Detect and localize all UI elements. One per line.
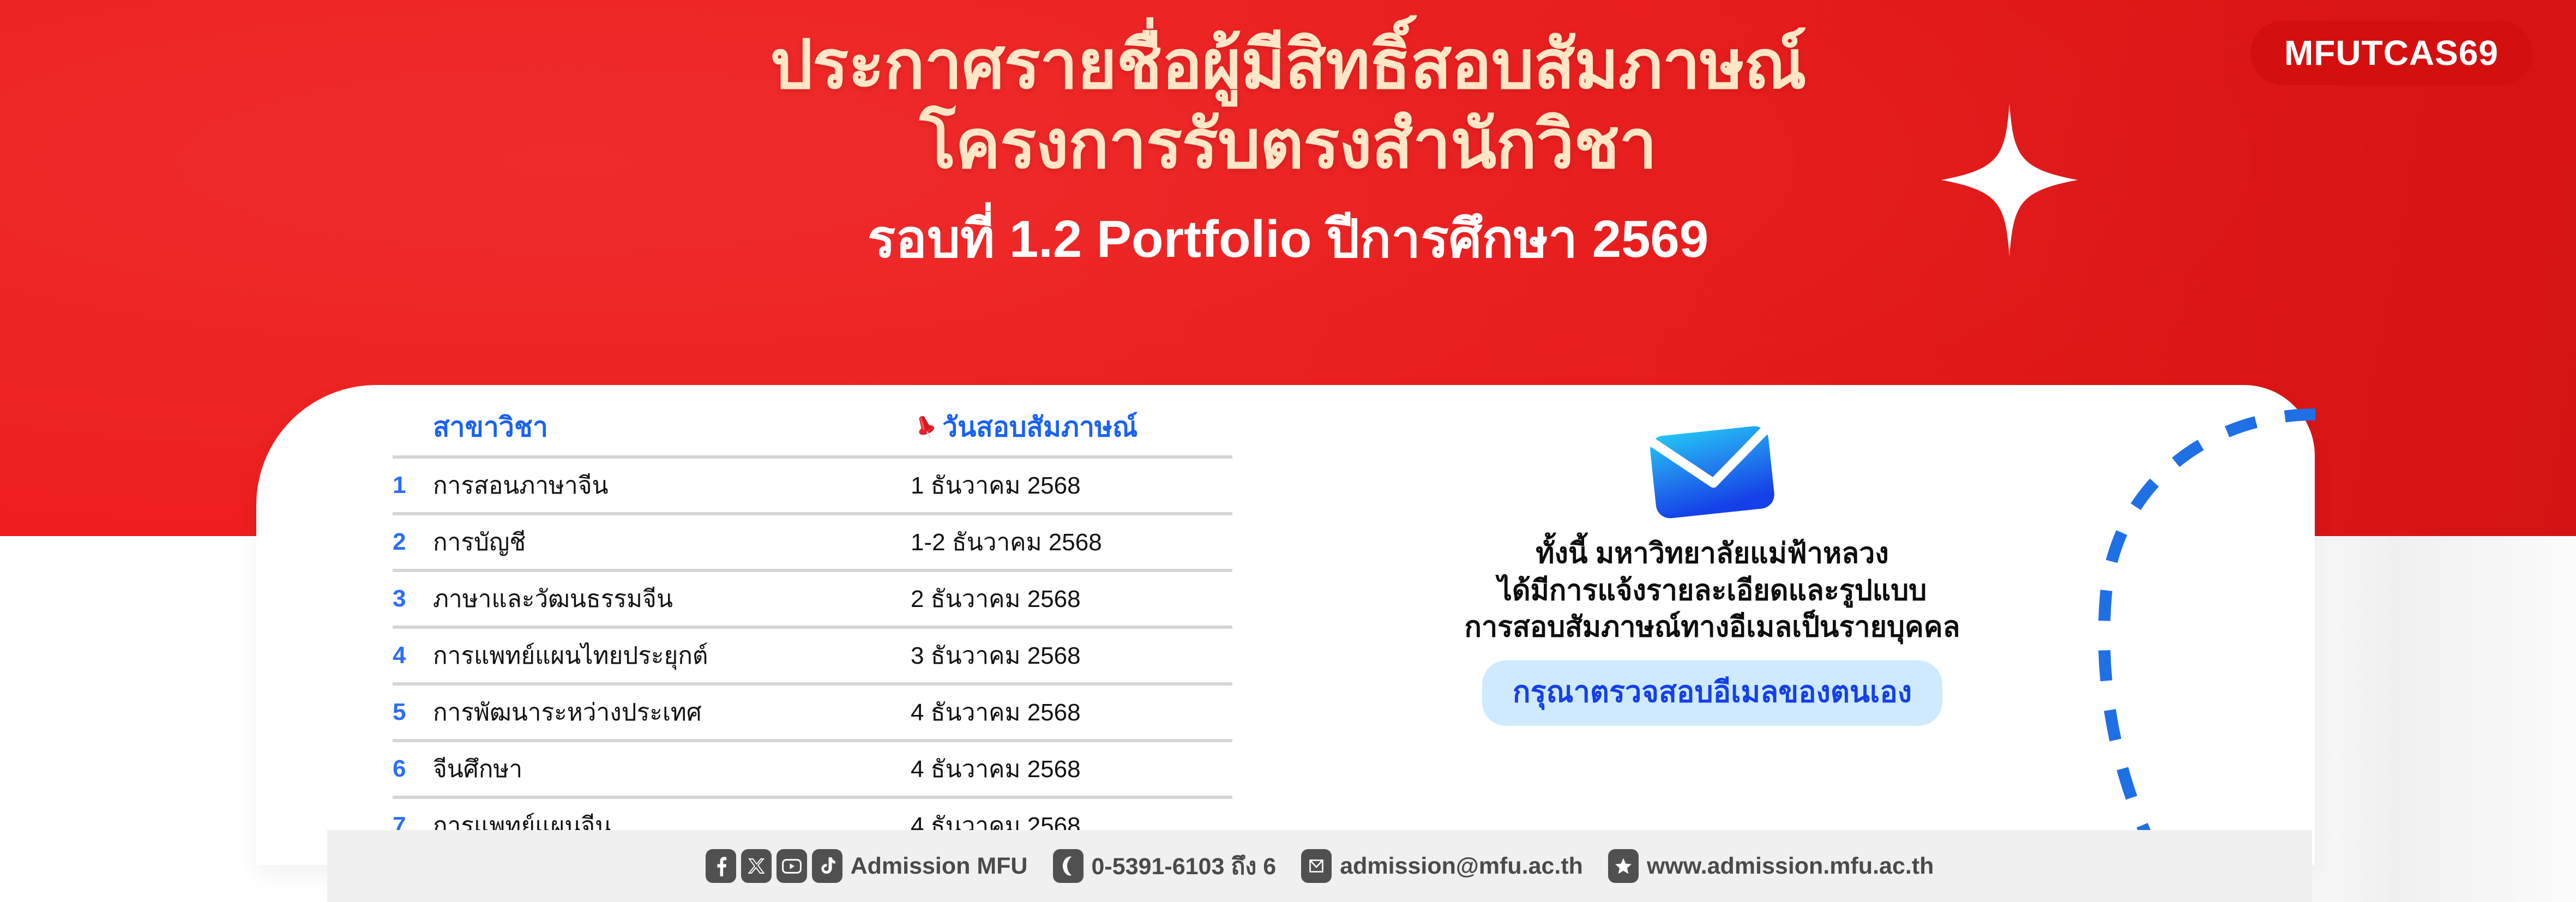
table-row: 2การบัญชี1-2 ธันวาคม 2568 [393, 514, 1232, 570]
badge-mfutcas69[interactable]: MFUTCAS69 [2250, 21, 2532, 85]
row-date: 1 ธันวาคม 2568 [902, 457, 1232, 514]
row-number: 1 [393, 457, 433, 514]
table-row: 6จีนศึกษา4 ธันวาคม 2568 [393, 741, 1232, 797]
footer-email-group: admission@mfu.ac.th [1301, 849, 1608, 883]
row-subject: การแพทย์แผนไทยประยุกต์ [433, 627, 902, 684]
badge-label: MFUTCAS69 [2284, 33, 2499, 73]
pushpin-icon [911, 412, 940, 442]
notice-line-1: ทั้งนี้ มหาวิทยาลัยแม่ฟ้าหลวง [1358, 536, 2067, 573]
notice-line-2: ได้มีการแจ้งรายละเอียดและรูปแบบ [1358, 573, 2067, 610]
phone-icon[interactable] [1053, 849, 1084, 883]
col-header-date-label: วันสอบสัมภาษณ์ [942, 412, 1137, 442]
table-row: 4การแพทย์แผนไทยประยุกต์3 ธันวาคม 2568 [393, 627, 1232, 684]
col-header-subject: สาขาวิชา [433, 406, 902, 457]
star-icon[interactable] [1608, 849, 1639, 883]
row-subject: การสอนภาษาจีน [433, 457, 902, 514]
table-body: 1การสอนภาษาจีน1 ธันวาคม 25682การบัญชี1-2… [393, 457, 1232, 865]
program-table-wrapper: สาขาวิชา [393, 406, 1232, 865]
footer-bar: Admission MFU 0-5391-6103 ถึง 6 admissio… [327, 830, 2312, 902]
email-notice-block: ทั้งนี้ มหาวิทยาลัยแม่ฟ้าหลวง ได้มีการแจ… [1358, 418, 2067, 726]
table-row: 3ภาษาและวัฒนธรรมจีน2 ธันวาคม 2568 [393, 570, 1232, 627]
footer-social-label: Admission MFU [851, 853, 1028, 880]
row-number: 6 [393, 741, 433, 797]
sparkle-star-icon [1941, 104, 2078, 256]
content-card: สาขาวิชา [256, 385, 2315, 865]
envelope-icon [1644, 418, 1780, 527]
tiktok-icon[interactable] [812, 849, 842, 883]
x-twitter-icon[interactable] [741, 849, 772, 883]
check-email-pill: กรุณาตรวจสอบอีเมลของตนเอง [1482, 660, 1942, 726]
row-number: 5 [393, 684, 433, 741]
row-subject: จีนศึกษา [433, 741, 902, 797]
col-header-date: วันสอบสัมภาษณ์ [902, 406, 1232, 457]
table-head: สาขาวิชา [393, 406, 1232, 457]
footer-website-text: www.admission.mfu.ac.th [1647, 853, 1934, 880]
table-row: 5การพัฒนาระหว่างประเทศ4 ธันวาคม 2568 [393, 684, 1232, 741]
row-number: 4 [393, 627, 433, 684]
youtube-icon[interactable] [777, 849, 807, 883]
row-subject: การบัญชี [433, 514, 902, 570]
row-date: 3 ธันวาคม 2568 [902, 627, 1232, 684]
footer-phone-text: 0-5391-6103 ถึง 6 [1092, 847, 1277, 885]
facebook-icon[interactable] [706, 849, 736, 883]
table-row: 1การสอนภาษาจีน1 ธันวาคม 2568 [393, 457, 1232, 514]
row-subject: การพัฒนาระหว่างประเทศ [433, 684, 902, 741]
row-date: 4 ธันวาคม 2568 [902, 684, 1232, 741]
col-header-number [393, 406, 433, 457]
banner-root: MFUTCAS69 ประกาศรายชื่อผู้มีสิทธิ์สอบสัม… [0, 0, 2576, 902]
email-icon[interactable] [1301, 849, 1332, 883]
footer-website-group: www.admission.mfu.ac.th [1608, 849, 1934, 883]
row-number: 2 [393, 514, 433, 570]
footer-email-text: admission@mfu.ac.th [1340, 853, 1583, 880]
notice-line-3: การสอบสัมภาษณ์ทางอีเมลเป็นรายบุคคล [1358, 609, 2067, 646]
row-date: 1-2 ธันวาคม 2568 [902, 514, 1232, 570]
row-number: 3 [393, 570, 433, 627]
program-table: สาขาวิชา [393, 406, 1232, 865]
row-date: 2 ธันวาคม 2568 [902, 570, 1232, 627]
table-header-row: สาขาวิชา [393, 406, 1232, 457]
row-date: 4 ธันวาคม 2568 [902, 741, 1232, 797]
row-subject: ภาษาและวัฒนธรรมจีน [433, 570, 902, 627]
footer-phone-group: 0-5391-6103 ถึง 6 [1053, 847, 1302, 885]
footer-social-group: Admission MFU [706, 849, 1053, 883]
